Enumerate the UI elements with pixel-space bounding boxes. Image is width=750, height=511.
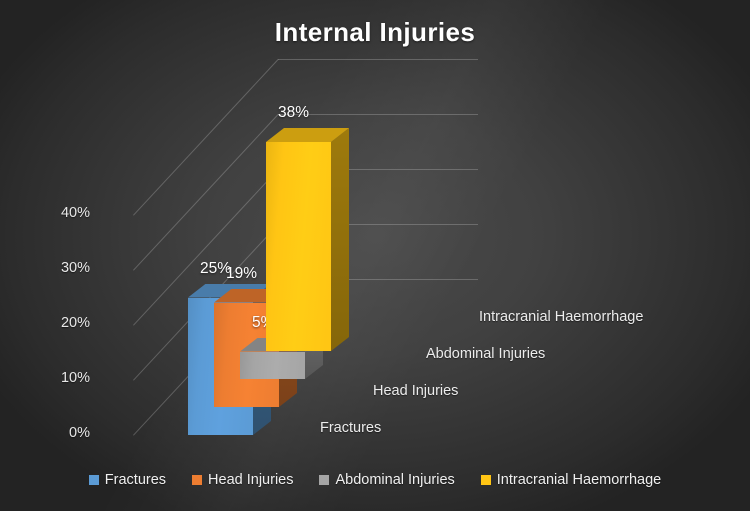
bar-value-label: 38%: [278, 104, 309, 122]
legend-item[interactable]: Head Injuries: [192, 472, 293, 488]
y-axis-tick-label: 20%: [38, 315, 90, 331]
y-axis-tick-label: 0%: [38, 425, 90, 441]
bar-front-face: [266, 142, 331, 351]
bar-abdominal-injuries[interactable]: [240, 352, 305, 380]
chart-legend: FracturesHead InjuriesAbdominal Injuries…: [0, 472, 750, 488]
y-axis-tick-label: 30%: [38, 260, 90, 276]
legend-item[interactable]: Fractures: [89, 472, 166, 488]
legend-swatch-icon: [89, 475, 99, 485]
chart-container: Internal Injuries 0%10%20%30%40%25%19%5%…: [0, 0, 750, 511]
category-label-intracranial-haemorrhage: Intracranial Haemorrhage: [479, 309, 643, 325]
category-label-fractures: Fractures: [320, 420, 381, 436]
legend-label: Abdominal Injuries: [335, 472, 454, 488]
legend-swatch-icon: [192, 475, 202, 485]
plot-area: 0%10%20%30%40%25%19%5%38%FracturesHead I…: [0, 0, 750, 470]
legend-label: Intracranial Haemorrhage: [497, 472, 661, 488]
legend-label: Fractures: [105, 472, 166, 488]
y-axis-tick-label: 40%: [38, 205, 90, 221]
category-label-abdominal-injuries: Abdominal Injuries: [426, 346, 545, 362]
y-axis-tick-label: 10%: [38, 370, 90, 386]
bar-intracranial-haemorrhage[interactable]: [266, 142, 331, 351]
gridline: [278, 59, 478, 60]
legend-swatch-icon: [319, 475, 329, 485]
legend-label: Head Injuries: [208, 472, 293, 488]
category-label-head-injuries: Head Injuries: [373, 383, 458, 399]
bar-front-face: [240, 352, 305, 380]
legend-item[interactable]: Intracranial Haemorrhage: [481, 472, 661, 488]
legend-swatch-icon: [481, 475, 491, 485]
bar-value-label: 19%: [226, 265, 257, 283]
bar-side-face: [331, 128, 349, 351]
legend-item[interactable]: Abdominal Injuries: [319, 472, 454, 488]
